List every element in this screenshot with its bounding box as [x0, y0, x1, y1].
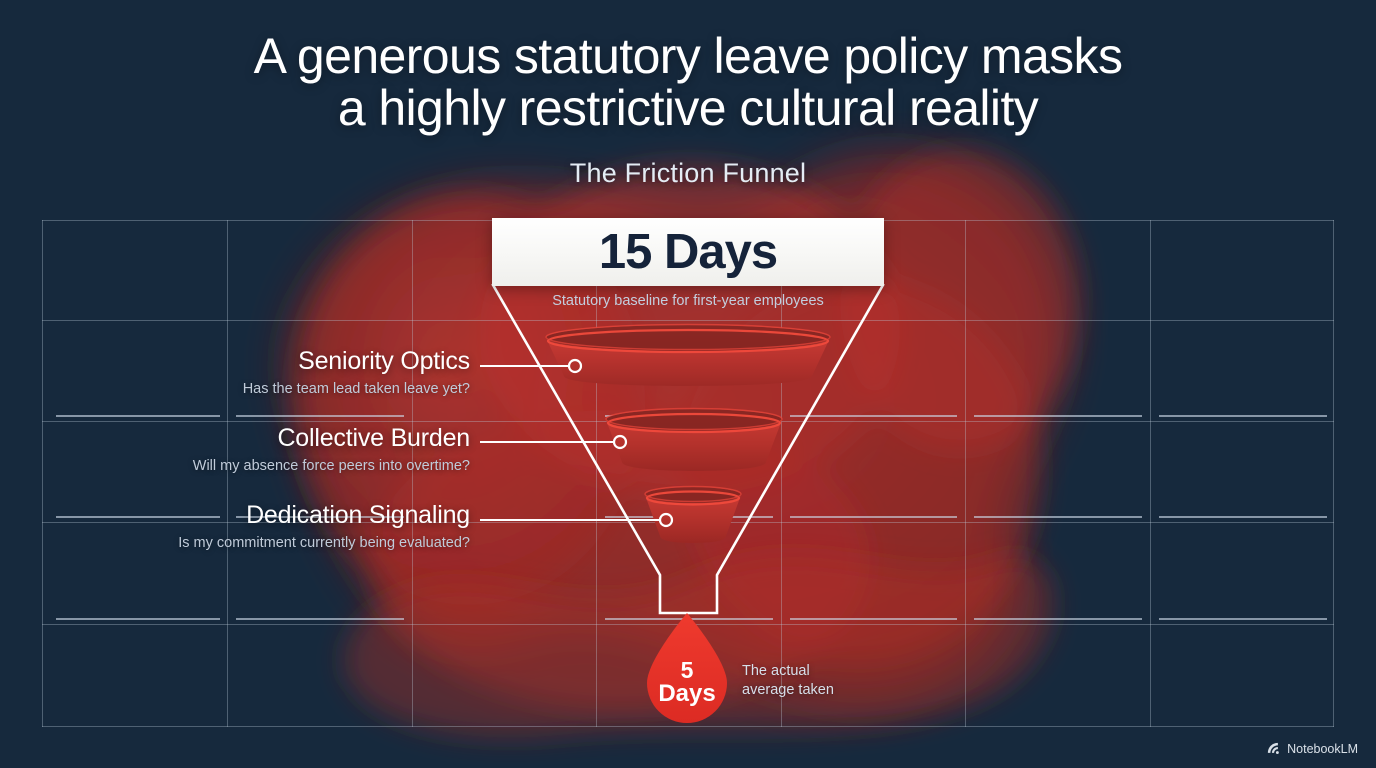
stage-label-question: Is my commitment currently being evaluat…: [30, 535, 470, 552]
actual-average-caption-line-1: The actual: [742, 662, 834, 681]
statutory-days-value: 15 Days: [599, 224, 777, 280]
droplet-number: 5: [681, 659, 694, 682]
droplet-unit: Days: [658, 682, 715, 706]
stage-label-question: Will my absence force peers into overtim…: [30, 458, 470, 475]
stage-label-title: Dedication Signaling: [30, 502, 470, 530]
statutory-value-banner: 15 Days: [492, 218, 884, 286]
funnel-bowl-2: [606, 409, 782, 472]
page-title: A generous statutory leave policy masks …: [0, 30, 1376, 134]
stage-label-dedication-signaling: Dedication Signaling Is my commitment cu…: [30, 502, 470, 551]
notebooklm-spiral-icon: [1266, 741, 1281, 756]
stage-label-collective-burden: Collective Burden Will my absence force …: [30, 425, 470, 474]
droplet-value: 5 Days: [647, 613, 727, 728]
page-title-line-2: a highly restrictive cultural reality: [338, 80, 1038, 136]
header: A generous statutory leave policy masks …: [0, 0, 1376, 189]
actual-average-caption-line-2: average taken: [742, 681, 834, 700]
funnel-bowl-3: [645, 487, 741, 544]
stage-label-title: Seniority Optics: [30, 348, 470, 376]
stage-label-title: Collective Burden: [30, 425, 470, 453]
notebooklm-watermark: NotebookLM: [1266, 741, 1358, 756]
notebooklm-watermark-label: NotebookLM: [1287, 742, 1358, 756]
stage-label-seniority-optics: Seniority Optics Has the team lead taken…: [30, 348, 470, 397]
chart-subtitle: The Friction Funnel: [0, 158, 1376, 189]
page-title-line-1: A generous statutory leave policy masks: [254, 28, 1123, 84]
connector-line-2: [480, 436, 626, 448]
actual-average-droplet: 5 Days: [647, 613, 727, 728]
actual-average-caption: The actual average taken: [742, 662, 834, 700]
connector-line-3: [480, 514, 672, 526]
stage-label-question: Has the team lead taken leave yet?: [30, 381, 470, 398]
statutory-caption: Statutory baseline for first-year employ…: [492, 293, 884, 309]
funnel-bowl-1: [546, 325, 830, 387]
